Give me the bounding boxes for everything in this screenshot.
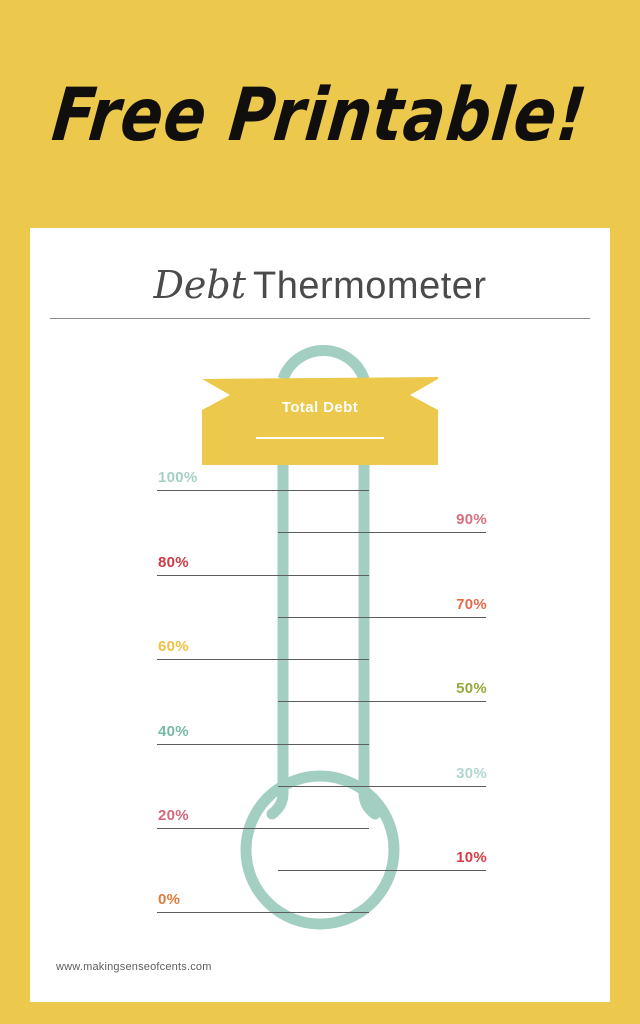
footer-url: www.makingsenseofcents.com [56,961,212,973]
scale-tick-line [278,870,486,871]
page-title-script-word: Debt [153,263,246,307]
scale-tick-label: 20% [158,807,189,824]
scale-tick-line [157,659,369,660]
page-title-plain-word: Thermometer [253,265,487,307]
scale-tick-label: 50% [456,680,487,697]
scale-tick-label: 80% [158,554,189,571]
printable-page: Free Printable! DebtThermometer [0,0,640,1024]
total-debt-ribbon: Total Debt [202,377,438,465]
promo-header-text: Free Printable! [49,71,592,157]
promo-header: Free Printable! [0,0,640,228]
scale-tick-line [157,912,369,913]
scale-tick-line [278,532,486,533]
scale-tick-label: 100% [158,469,198,486]
scale-tick-line [278,617,486,618]
scale-tick-label: 30% [456,765,487,782]
printable-card: DebtThermometer Tota [30,228,610,1002]
ribbon-shape [202,377,438,465]
scale-tick-label: 60% [158,638,189,655]
scale-tick-line [278,701,486,702]
scale-tick-label: 10% [456,849,487,866]
thermometer-bulb [246,776,394,924]
scale-tick-label: 70% [456,596,487,613]
scale-tick-line [157,490,369,491]
thermometer-tube-left-wall [272,465,283,814]
scale-tick-line [157,744,369,745]
scale-tick-label: 40% [158,723,189,740]
page-title: DebtThermometer [30,263,610,308]
thermometer-tube-right-wall [364,465,375,814]
ribbon-label: Total Debt [202,399,438,416]
scale-tick-label: 0% [158,891,180,908]
scale-tick-line [157,575,369,576]
title-divider [50,318,590,319]
thermometer-dome-top [283,350,364,379]
scale-tick-line [278,786,486,787]
scale-tick-label: 90% [456,511,487,528]
thermometer-graphic [30,228,610,1002]
total-debt-blank-line[interactable] [256,437,384,439]
scale-tick-line [157,828,369,829]
